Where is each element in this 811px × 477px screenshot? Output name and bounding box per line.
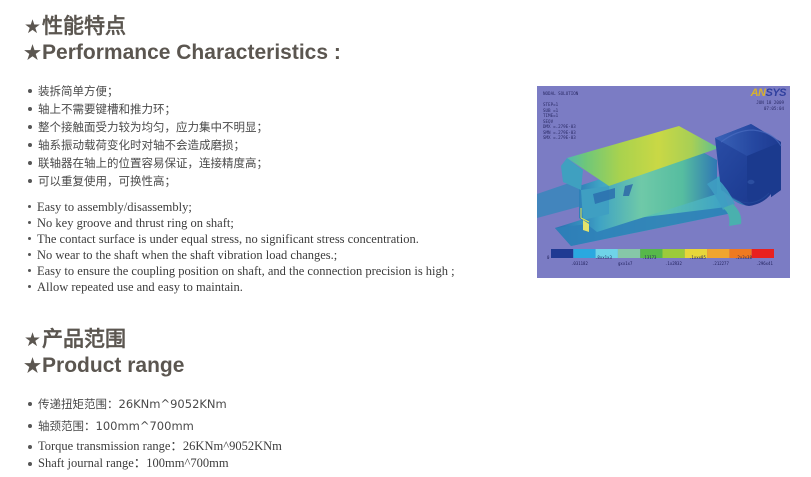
ansys-logo: ANSYS <box>751 87 786 99</box>
list-item-label: 轴系振动载荷变化时对轴不会造成磨损； <box>38 136 245 154</box>
bullet-dot-icon <box>28 402 32 406</box>
legend-label: .212277 <box>712 261 729 266</box>
bullet-dot-icon <box>28 221 31 224</box>
list-item: Easy to ensure the coupling position on … <box>28 263 455 279</box>
product-range-heading-en: ★Product range <box>24 352 184 379</box>
bullet-dot-icon <box>28 161 32 165</box>
bullet-dot-icon <box>28 424 32 428</box>
list-item-label: Easy to ensure the coupling position on … <box>37 263 455 279</box>
bullet-dot-icon <box>28 445 32 449</box>
bullet-dot-icon <box>28 462 32 466</box>
product-range-specs-cn: 传递扭矩范围：26KNm^9052KNm 轴颈范围：100mm^700mm <box>28 393 227 437</box>
performance-heading-cn-text: 性能特点 <box>42 14 126 38</box>
bullet-dot-icon <box>28 253 31 256</box>
list-item-label: The contact surface is under equal stres… <box>37 231 419 247</box>
list-item-label: 联轴器在轴上的位置容易保证，连接精度高； <box>38 154 268 172</box>
list-item: Easy to assembly/disassembly; <box>28 199 455 215</box>
star-icon: ★ <box>24 43 41 64</box>
list-item: No wear to the shaft when the shaft vibr… <box>28 247 455 263</box>
product-range-heading-cn-text: 产品范围 <box>42 327 126 351</box>
star-icon: ★ <box>24 16 41 38</box>
list-item: The contact surface is under equal stres… <box>28 231 455 247</box>
bullet-dot-icon <box>28 179 32 183</box>
list-item-label: Allow repeated use and easy to maintain. <box>37 279 243 295</box>
ansys-logo-sys: SYS <box>765 87 786 99</box>
legend-label: .031182 <box>571 261 588 266</box>
performance-heading-en-text: Performance Characteristics : <box>42 41 341 64</box>
product-range-specs-en: Torque transmission range：26KNm^9052KNm … <box>28 438 282 472</box>
performance-bullets-cn: 装拆简单方便； 轴上不需要键槽和推力环； 整个接触面受力较为均匀，应力集中不明显… <box>28 82 268 190</box>
list-item: 整个接触面受力较为均匀，应力集中不明显； <box>28 118 268 136</box>
legend-label: gxx1x7 <box>618 261 632 266</box>
list-item-label: Torque transmission range：26KNm^9052KNm <box>38 438 282 455</box>
list-item-label: No wear to the shaft when the shaft vibr… <box>37 247 337 263</box>
product-feature-page: ★性能特点 ★Performance Characteristics : 装拆简… <box>0 0 811 477</box>
fea-date-block: JUN 18 2009 07:05:04 <box>756 100 784 111</box>
ansys-logo-an: AN <box>751 87 766 99</box>
bullet-dot-icon <box>28 205 31 208</box>
legend-label: .13173 <box>642 255 656 260</box>
legend-labels-bottom-row: .031182 gxx1x7 .1x2R32 .212277 .296x41 <box>547 261 780 267</box>
bullet-dot-icon <box>28 107 32 111</box>
list-item-label: Easy to assembly/disassembly; <box>37 199 192 215</box>
list-item: No key groove and thrust ring on shaft; <box>28 215 455 231</box>
list-item-label: 装拆简单方便； <box>38 82 119 100</box>
list-item-label: 轴颈范围：100mm^700mm <box>38 415 194 437</box>
bullet-dot-icon <box>28 89 32 93</box>
list-item-label: Shaft journal range：100mm^700mm <box>38 455 229 472</box>
star-icon: ★ <box>24 356 41 377</box>
bullet-dot-icon <box>28 125 32 129</box>
list-item-label: No key groove and thrust ring on shaft; <box>37 215 234 231</box>
legend-label: 0 <box>547 255 549 260</box>
list-item: Torque transmission range：26KNm^9052KNm <box>28 438 282 455</box>
list-item: 轴上不需要键槽和推力环； <box>28 100 268 118</box>
product-range-heading-cn: ★产品范围 <box>24 327 184 352</box>
ansys-fea-contour-image: ANSYS NODAL SOLUTION STEP=1 SUB =1 TIME=… <box>537 86 790 278</box>
star-icon: ★ <box>24 329 41 351</box>
performance-heading-cn: ★性能特点 <box>24 14 341 39</box>
list-item: 可以重复使用，可换性高； <box>28 172 268 190</box>
list-item: 轴系振动载荷变化时对轴不会造成磨损； <box>28 136 268 154</box>
list-item: Shaft journal range：100mm^700mm <box>28 455 282 472</box>
product-range-heading-group: ★产品范围 ★Product range <box>24 327 184 379</box>
list-item-label: 轴上不需要键槽和推力环； <box>38 100 176 118</box>
legend-label: .2x3x38 <box>735 255 752 260</box>
list-item: 轴颈范围：100mm^700mm <box>28 415 227 437</box>
fea-info-block: STEP=1 SUB =1 TIME=1 SEQV DMX =.279E-03 … <box>543 102 576 141</box>
legend-label: .1x2R32 <box>665 261 682 266</box>
bullet-dot-icon <box>28 269 31 272</box>
list-item-label: 可以重复使用，可换性高； <box>38 172 176 190</box>
list-item-label: 传递扭矩范围：26KNm^9052KNm <box>38 393 227 415</box>
legend-label: .296x41 <box>756 261 773 266</box>
list-item: 装拆简单方便； <box>28 82 268 100</box>
legend-label: .1xxx85 <box>689 255 706 260</box>
list-item: Allow repeated use and easy to maintain. <box>28 279 455 295</box>
legend-label: .8xx1x3 <box>595 255 612 260</box>
list-item-label: 整个接触面受力较为均匀，应力集中不明显； <box>38 118 268 136</box>
fea-header-label: NODAL SOLUTION <box>543 91 578 97</box>
performance-heading-en: ★Performance Characteristics : <box>24 39 341 66</box>
bullet-dot-icon <box>28 143 32 147</box>
product-range-heading-en-text: Product range <box>42 354 184 377</box>
bullet-dot-icon <box>28 285 31 288</box>
bullet-dot-icon <box>28 237 31 240</box>
list-item: 传递扭矩范围：26KNm^9052KNm <box>28 393 227 415</box>
legend-labels: 0 .8xx1x3 .13173 .1xxx85 .2x3x38 .031182… <box>547 255 780 267</box>
performance-heading-group: ★性能特点 ★Performance Characteristics : <box>24 14 341 66</box>
list-item: 联轴器在轴上的位置容易保证，连接精度高； <box>28 154 268 172</box>
performance-bullets-en: Easy to assembly/disassembly; No key gro… <box>28 199 455 295</box>
